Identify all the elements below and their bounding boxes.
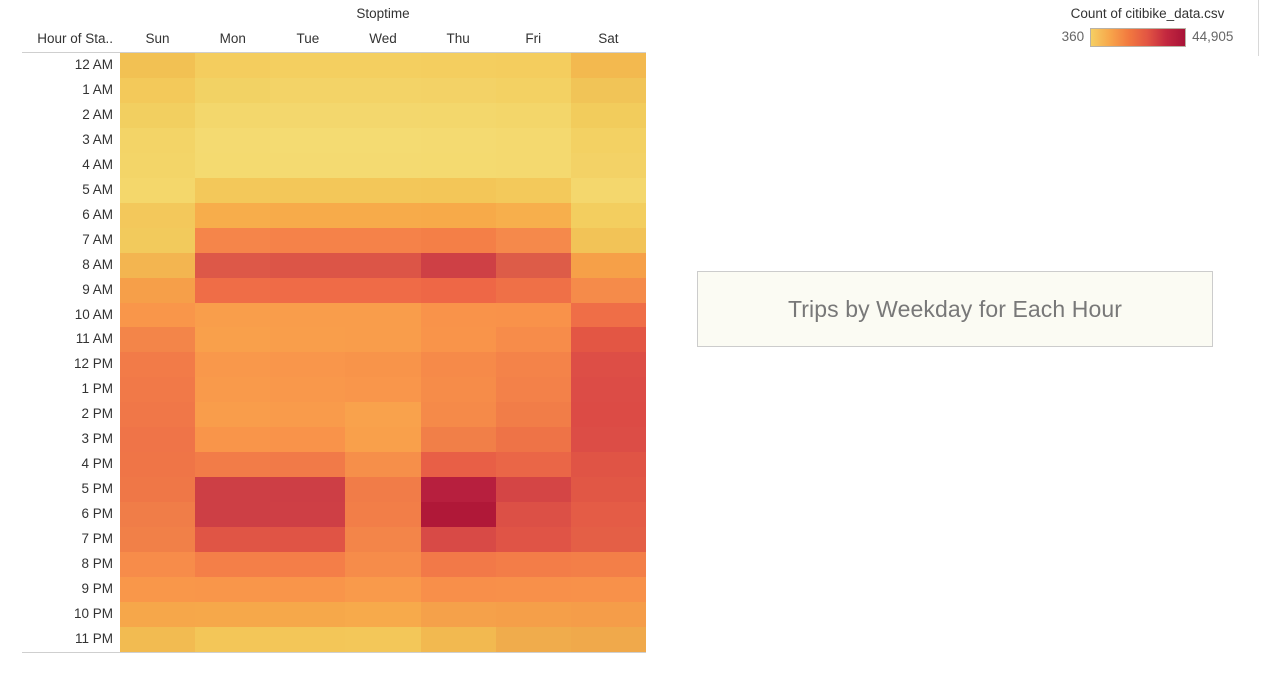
heatmap-cell[interactable] (270, 527, 345, 552)
heatmap-cell[interactable] (496, 153, 571, 178)
row-label-gap (113, 352, 120, 377)
heatmap-cell[interactable] (496, 627, 571, 652)
heatmap-cell[interactable] (421, 627, 496, 652)
heatmap-row-cells (120, 627, 646, 652)
heatmap-cell[interactable] (421, 502, 496, 527)
heatmap-cell[interactable] (421, 253, 496, 278)
row-label-gap (113, 78, 120, 103)
heatmap-cell[interactable] (120, 427, 195, 452)
day-header-sun[interactable]: Sun (120, 28, 195, 52)
heatmap-cell[interactable] (345, 402, 420, 427)
row-label-gap (113, 477, 120, 502)
hour-label[interactable]: 11 PM (0, 627, 113, 652)
heatmap-row-cells (120, 327, 646, 352)
heatmap-cell[interactable] (195, 203, 270, 228)
heatmap-cell[interactable] (421, 527, 496, 552)
row-label-gap (113, 552, 120, 577)
heatmap-cell[interactable] (270, 477, 345, 502)
heatmap-cell[interactable] (571, 278, 646, 303)
heatmap-cell[interactable] (270, 303, 345, 328)
heatmap-header-band: Hour of Sta.. SunMonTueWedThuFriSat (0, 28, 646, 52)
heatmap-cell[interactable] (571, 352, 646, 377)
hour-label[interactable]: 1 PM (0, 377, 113, 402)
heatmap-cell[interactable] (195, 327, 270, 352)
heatmap-cell[interactable] (120, 253, 195, 278)
row-label-gap (113, 278, 120, 303)
heatmap-cell[interactable] (345, 627, 420, 652)
hour-label[interactable]: 3 PM (0, 427, 113, 452)
heatmap-cell[interactable] (270, 78, 345, 103)
hour-label[interactable]: 12 AM (0, 53, 113, 78)
heatmap-cell[interactable] (496, 128, 571, 153)
heatmap-cell[interactable] (120, 53, 195, 78)
heatmap-cell[interactable] (345, 577, 420, 602)
heatmap-row: 9 PM (0, 577, 646, 602)
heatmap-cell[interactable] (270, 53, 345, 78)
heatmap-cell[interactable] (195, 103, 270, 128)
heatmap-cell[interactable] (571, 402, 646, 427)
heatmap-cell[interactable] (345, 78, 420, 103)
heatmap-cell[interactable] (496, 477, 571, 502)
heatmap-row: 5 PM (0, 477, 646, 502)
heatmap-cell[interactable] (345, 153, 420, 178)
heatmap-cell[interactable] (270, 552, 345, 577)
heatmap-cell[interactable] (496, 203, 571, 228)
row-label-gap (113, 203, 120, 228)
heatmap-cell[interactable] (421, 477, 496, 502)
color-legend[interactable]: Count of citibike_data.csv 360 44,905 (1040, 4, 1255, 54)
heatmap-cell[interactable] (345, 377, 420, 402)
heatmap-row-cells (120, 303, 646, 328)
heatmap-cell[interactable] (421, 153, 496, 178)
heatmap-cell[interactable] (496, 377, 571, 402)
row-label-gap (113, 627, 120, 652)
heatmap-cell[interactable] (270, 327, 345, 352)
heatmap-cell[interactable] (195, 552, 270, 577)
heatmap-cell[interactable] (270, 452, 345, 477)
heatmap-cell[interactable] (195, 153, 270, 178)
heatmap-cell[interactable] (571, 253, 646, 278)
hour-label[interactable]: 11 AM (0, 327, 113, 352)
heatmap-cell[interactable] (421, 402, 496, 427)
heatmap-cell[interactable] (345, 303, 420, 328)
hour-label[interactable]: 7 PM (0, 527, 113, 552)
heatmap-cell[interactable] (571, 53, 646, 78)
heatmap-cell[interactable] (270, 377, 345, 402)
hour-label[interactable]: 5 PM (0, 477, 113, 502)
heatmap-row: 3 PM (0, 427, 646, 452)
heatmap-cell[interactable] (270, 627, 345, 652)
heatmap-cell[interactable] (195, 228, 270, 253)
heatmap-cell[interactable] (195, 253, 270, 278)
heatmap-cell[interactable] (496, 452, 571, 477)
heatmap-cell[interactable] (496, 327, 571, 352)
heatmap-cell[interactable] (195, 477, 270, 502)
legend-right-divider (1258, 0, 1259, 56)
heatmap-cell[interactable] (195, 78, 270, 103)
heatmap-row-cells (120, 427, 646, 452)
legend-ramp-row: 360 44,905 (1040, 26, 1255, 48)
heatmap-cell[interactable] (120, 327, 195, 352)
heatmap-cell[interactable] (571, 527, 646, 552)
heatmap-cell[interactable] (571, 427, 646, 452)
heatmap-cell[interactable] (120, 203, 195, 228)
heatmap-row-cells (120, 352, 646, 377)
heatmap-cell[interactable] (421, 78, 496, 103)
heatmap-cell[interactable] (496, 178, 571, 203)
row-label-gap (113, 452, 120, 477)
heatmap-cell[interactable] (571, 602, 646, 627)
hour-label[interactable]: 6 PM (0, 502, 113, 527)
heatmap-cell[interactable] (120, 452, 195, 477)
heatmap-row-cells (120, 477, 646, 502)
heatmap-cell[interactable] (345, 527, 420, 552)
heatmap-row: 12 PM (0, 352, 646, 377)
heatmap-row-cells (120, 377, 646, 402)
heatmap-row-cells (120, 128, 646, 153)
heatmap-cell[interactable] (345, 327, 420, 352)
heatmap-row: 3 AM (0, 128, 646, 153)
heatmap-cell[interactable] (120, 402, 195, 427)
heatmap-row: 4 PM (0, 452, 646, 477)
heatmap-row: 8 PM (0, 552, 646, 577)
row-label-gap (113, 402, 120, 427)
heatmap-cell[interactable] (496, 552, 571, 577)
heatmap-cell[interactable] (270, 278, 345, 303)
hour-label[interactable]: 4 PM (0, 452, 113, 477)
heatmap-cell[interactable] (496, 427, 571, 452)
hour-label[interactable]: 5 AM (0, 178, 113, 203)
heatmap-cell[interactable] (421, 427, 496, 452)
row-label-gap (113, 502, 120, 527)
heatmap-cell[interactable] (421, 228, 496, 253)
hour-label[interactable]: 6 AM (0, 203, 113, 228)
heatmap-cell[interactable] (421, 303, 496, 328)
heatmap-cell[interactable] (120, 352, 195, 377)
heatmap-row-cells (120, 153, 646, 178)
heatmap-cell[interactable] (195, 128, 270, 153)
heatmap-row-cells (120, 103, 646, 128)
heatmap-row: 2 AM (0, 103, 646, 128)
heatmap-cell[interactable] (195, 53, 270, 78)
heatmap-cell[interactable] (421, 103, 496, 128)
legend-max-value: 44,905 (1192, 27, 1233, 47)
legend-min-value: 360 (1062, 27, 1085, 47)
heatmap-cell[interactable] (571, 203, 646, 228)
heatmap-cell[interactable] (270, 352, 345, 377)
hour-label[interactable]: 2 PM (0, 402, 113, 427)
heatmap-cell[interactable] (571, 78, 646, 103)
heatmap-cell[interactable] (120, 103, 195, 128)
heatmap-cell[interactable] (345, 228, 420, 253)
hour-label[interactable]: 3 AM (0, 128, 113, 153)
dashboard-title-text: Trips by Weekday for Each Hour (788, 296, 1122, 323)
heatmap-cell[interactable] (421, 53, 496, 78)
heatmap-row: 11 PM (0, 627, 646, 652)
row-label-gap (113, 153, 120, 178)
heatmap-cell[interactable] (421, 352, 496, 377)
heatmap-cell[interactable] (571, 327, 646, 352)
heatmap-cell[interactable] (270, 203, 345, 228)
heatmap-cell[interactable] (195, 402, 270, 427)
heatmap-cell[interactable] (120, 602, 195, 627)
row-label-gap (113, 602, 120, 627)
heatmap-cell[interactable] (421, 602, 496, 627)
heatmap-cell[interactable] (421, 128, 496, 153)
heatmap-cell[interactable] (270, 128, 345, 153)
day-header-sat[interactable]: Sat (571, 28, 646, 52)
heatmap-cell[interactable] (421, 577, 496, 602)
legend-gradient-ramp[interactable] (1090, 28, 1186, 47)
heatmap-worksheet: Stoptime Hour of Sta.. SunMonTueWedThuFr… (0, 0, 660, 681)
heatmap-row: 6 AM (0, 203, 646, 228)
row-label-gap (113, 53, 120, 78)
heatmap-cell[interactable] (496, 78, 571, 103)
legend-title: Count of citibike_data.csv (1040, 4, 1255, 24)
heatmap-cell[interactable] (571, 228, 646, 253)
heatmap-cell[interactable] (571, 377, 646, 402)
heatmap-row: 10 AM (0, 303, 646, 328)
heatmap-row-cells (120, 278, 646, 303)
hour-label[interactable]: 4 AM (0, 153, 113, 178)
day-header-mon[interactable]: Mon (195, 28, 270, 52)
heatmap-cell[interactable] (120, 477, 195, 502)
row-label-gap (113, 577, 120, 602)
row-label-gap (113, 103, 120, 128)
heatmap-cell[interactable] (120, 128, 195, 153)
heatmap-cell[interactable] (270, 602, 345, 627)
day-header-wed[interactable]: Wed (345, 28, 420, 52)
heatmap-cell[interactable] (571, 128, 646, 153)
heatmap-cell[interactable] (120, 577, 195, 602)
heatmap-cell[interactable] (496, 602, 571, 627)
heatmap-row-cells (120, 552, 646, 577)
heatmap-cell[interactable] (496, 253, 571, 278)
heatmap-cell[interactable] (195, 527, 270, 552)
heatmap-row: 2 PM (0, 402, 646, 427)
heatmap-cell[interactable] (345, 552, 420, 577)
heatmap-row-cells (120, 577, 646, 602)
heatmap-cell[interactable] (571, 303, 646, 328)
heatmap-row-cells (120, 178, 646, 203)
footer-divider-rule (22, 652, 646, 653)
heatmap-cell[interactable] (496, 402, 571, 427)
heatmap-row-cells (120, 452, 646, 477)
row-label-gap (113, 377, 120, 402)
heatmap-row: 7 AM (0, 228, 646, 253)
heatmap-cell[interactable] (120, 377, 195, 402)
heatmap-cell[interactable] (345, 278, 420, 303)
column-field-title: Stoptime (120, 5, 646, 23)
hour-label[interactable]: 9 PM (0, 577, 113, 602)
heatmap-cell[interactable] (195, 427, 270, 452)
heatmap-cell[interactable] (270, 103, 345, 128)
heatmap-cell[interactable] (120, 502, 195, 527)
heatmap-cell[interactable] (421, 452, 496, 477)
heatmap-cell[interactable] (195, 278, 270, 303)
heatmap-cell[interactable] (345, 128, 420, 153)
row-label-gap (113, 253, 120, 278)
heatmap-cell[interactable] (571, 103, 646, 128)
heatmap-cell[interactable] (571, 552, 646, 577)
heatmap-row: 9 AM (0, 278, 646, 303)
heatmap-cell[interactable] (421, 377, 496, 402)
hour-label[interactable]: 12 PM (0, 352, 113, 377)
heatmap-cell[interactable] (345, 178, 420, 203)
heatmap-cell[interactable] (270, 402, 345, 427)
heatmap-cell[interactable] (345, 427, 420, 452)
day-header-thu[interactable]: Thu (421, 28, 496, 52)
heatmap-row: 5 AM (0, 178, 646, 203)
heatmap-row: 1 PM (0, 377, 646, 402)
heatmap-cell[interactable] (270, 178, 345, 203)
row-label-gap (113, 178, 120, 203)
heatmap-cell[interactable] (571, 178, 646, 203)
heatmap-cell[interactable] (571, 452, 646, 477)
heatmap-cell[interactable] (195, 352, 270, 377)
heatmap-cell[interactable] (195, 502, 270, 527)
heatmap-row: 4 AM (0, 153, 646, 178)
heatmap-row-cells (120, 527, 646, 552)
heatmap-row: 8 AM (0, 253, 646, 278)
heatmap-row: 11 AM (0, 327, 646, 352)
heatmap-cell[interactable] (345, 103, 420, 128)
heatmap-cell[interactable] (421, 552, 496, 577)
heatmap-cell[interactable] (496, 278, 571, 303)
heatmap-cell[interactable] (496, 303, 571, 328)
heatmap-cell[interactable] (345, 452, 420, 477)
row-label-gap (113, 303, 120, 328)
dashboard-title-box[interactable]: Trips by Weekday for Each Hour (697, 271, 1213, 347)
heatmap-cell[interactable] (345, 602, 420, 627)
heatmap-cell[interactable] (270, 427, 345, 452)
hour-label[interactable]: 2 AM (0, 103, 113, 128)
heatmap-cell[interactable] (120, 228, 195, 253)
heatmap-row-cells (120, 402, 646, 427)
row-label-gap (113, 128, 120, 153)
row-field-title[interactable]: Hour of Sta.. (0, 28, 113, 50)
heatmap-cell[interactable] (496, 502, 571, 527)
row-label-gap (113, 427, 120, 452)
heatmap-cell[interactable] (496, 527, 571, 552)
heatmap-cell[interactable] (120, 178, 195, 203)
heatmap-cell[interactable] (571, 477, 646, 502)
heatmap-cell[interactable] (270, 153, 345, 178)
heatmap-cell[interactable] (345, 502, 420, 527)
heatmap-cell[interactable] (120, 153, 195, 178)
heatmap-cell[interactable] (120, 527, 195, 552)
heatmap-cell[interactable] (496, 352, 571, 377)
heatmap-row-cells (120, 602, 646, 627)
heatmap-cell[interactable] (270, 228, 345, 253)
row-label-gap (113, 228, 120, 253)
heatmap-cell[interactable] (120, 78, 195, 103)
heatmap-row-cells (120, 502, 646, 527)
heatmap-cell[interactable] (120, 552, 195, 577)
heatmap-cell[interactable] (195, 602, 270, 627)
heatmap-cell[interactable] (571, 577, 646, 602)
heatmap-cell[interactable] (345, 203, 420, 228)
day-header-tue[interactable]: Tue (270, 28, 345, 52)
heatmap-grid: 12 AM1 AM2 AM3 AM4 AM5 AM6 AM7 AM8 AM9 A… (0, 53, 646, 652)
heatmap-row-cells (120, 78, 646, 103)
heatmap-row: 7 PM (0, 527, 646, 552)
heatmap-cell[interactable] (421, 278, 496, 303)
day-header-row: SunMonTueWedThuFriSat (120, 28, 646, 52)
heatmap-row-cells (120, 228, 646, 253)
heatmap-row: 10 PM (0, 602, 646, 627)
heatmap-cell[interactable] (270, 253, 345, 278)
heatmap-cell[interactable] (496, 53, 571, 78)
hour-label[interactable]: 10 AM (0, 303, 113, 328)
hour-label[interactable]: 1 AM (0, 78, 113, 103)
heatmap-cell[interactable] (421, 203, 496, 228)
heatmap-cell[interactable] (195, 377, 270, 402)
heatmap-row-cells (120, 53, 646, 78)
heatmap-cell[interactable] (270, 502, 345, 527)
heatmap-row-cells (120, 203, 646, 228)
heatmap-cell[interactable] (345, 352, 420, 377)
heatmap-cell[interactable] (421, 178, 496, 203)
row-label-gap (113, 527, 120, 552)
heatmap-cell[interactable] (571, 502, 646, 527)
heatmap-cell[interactable] (195, 627, 270, 652)
hour-label[interactable]: 8 PM (0, 552, 113, 577)
heatmap-cell[interactable] (571, 153, 646, 178)
day-header-fri[interactable]: Fri (496, 28, 571, 52)
heatmap-cell[interactable] (345, 253, 420, 278)
heatmap-cell[interactable] (120, 278, 195, 303)
heatmap-row: 1 AM (0, 78, 646, 103)
heatmap-row-cells (120, 253, 646, 278)
heatmap-cell[interactable] (496, 577, 571, 602)
heatmap-row: 12 AM (0, 53, 646, 78)
heatmap-cell[interactable] (195, 178, 270, 203)
heatmap-row: 6 PM (0, 502, 646, 527)
heatmap-cell[interactable] (120, 627, 195, 652)
heatmap-cell[interactable] (195, 577, 270, 602)
heatmap-cell[interactable] (421, 327, 496, 352)
row-label-gap (113, 327, 120, 352)
hour-label[interactable]: 7 AM (0, 228, 113, 253)
heatmap-cell[interactable] (195, 303, 270, 328)
heatmap-cell[interactable] (345, 53, 420, 78)
heatmap-cell[interactable] (496, 103, 571, 128)
heatmap-cell[interactable] (270, 577, 345, 602)
heatmap-cell[interactable] (345, 477, 420, 502)
heatmap-cell[interactable] (496, 228, 571, 253)
hour-label[interactable]: 10 PM (0, 602, 113, 627)
hour-label[interactable]: 9 AM (0, 278, 113, 303)
heatmap-cell[interactable] (120, 303, 195, 328)
hour-label[interactable]: 8 AM (0, 253, 113, 278)
heatmap-cell[interactable] (195, 452, 270, 477)
heatmap-cell[interactable] (571, 627, 646, 652)
